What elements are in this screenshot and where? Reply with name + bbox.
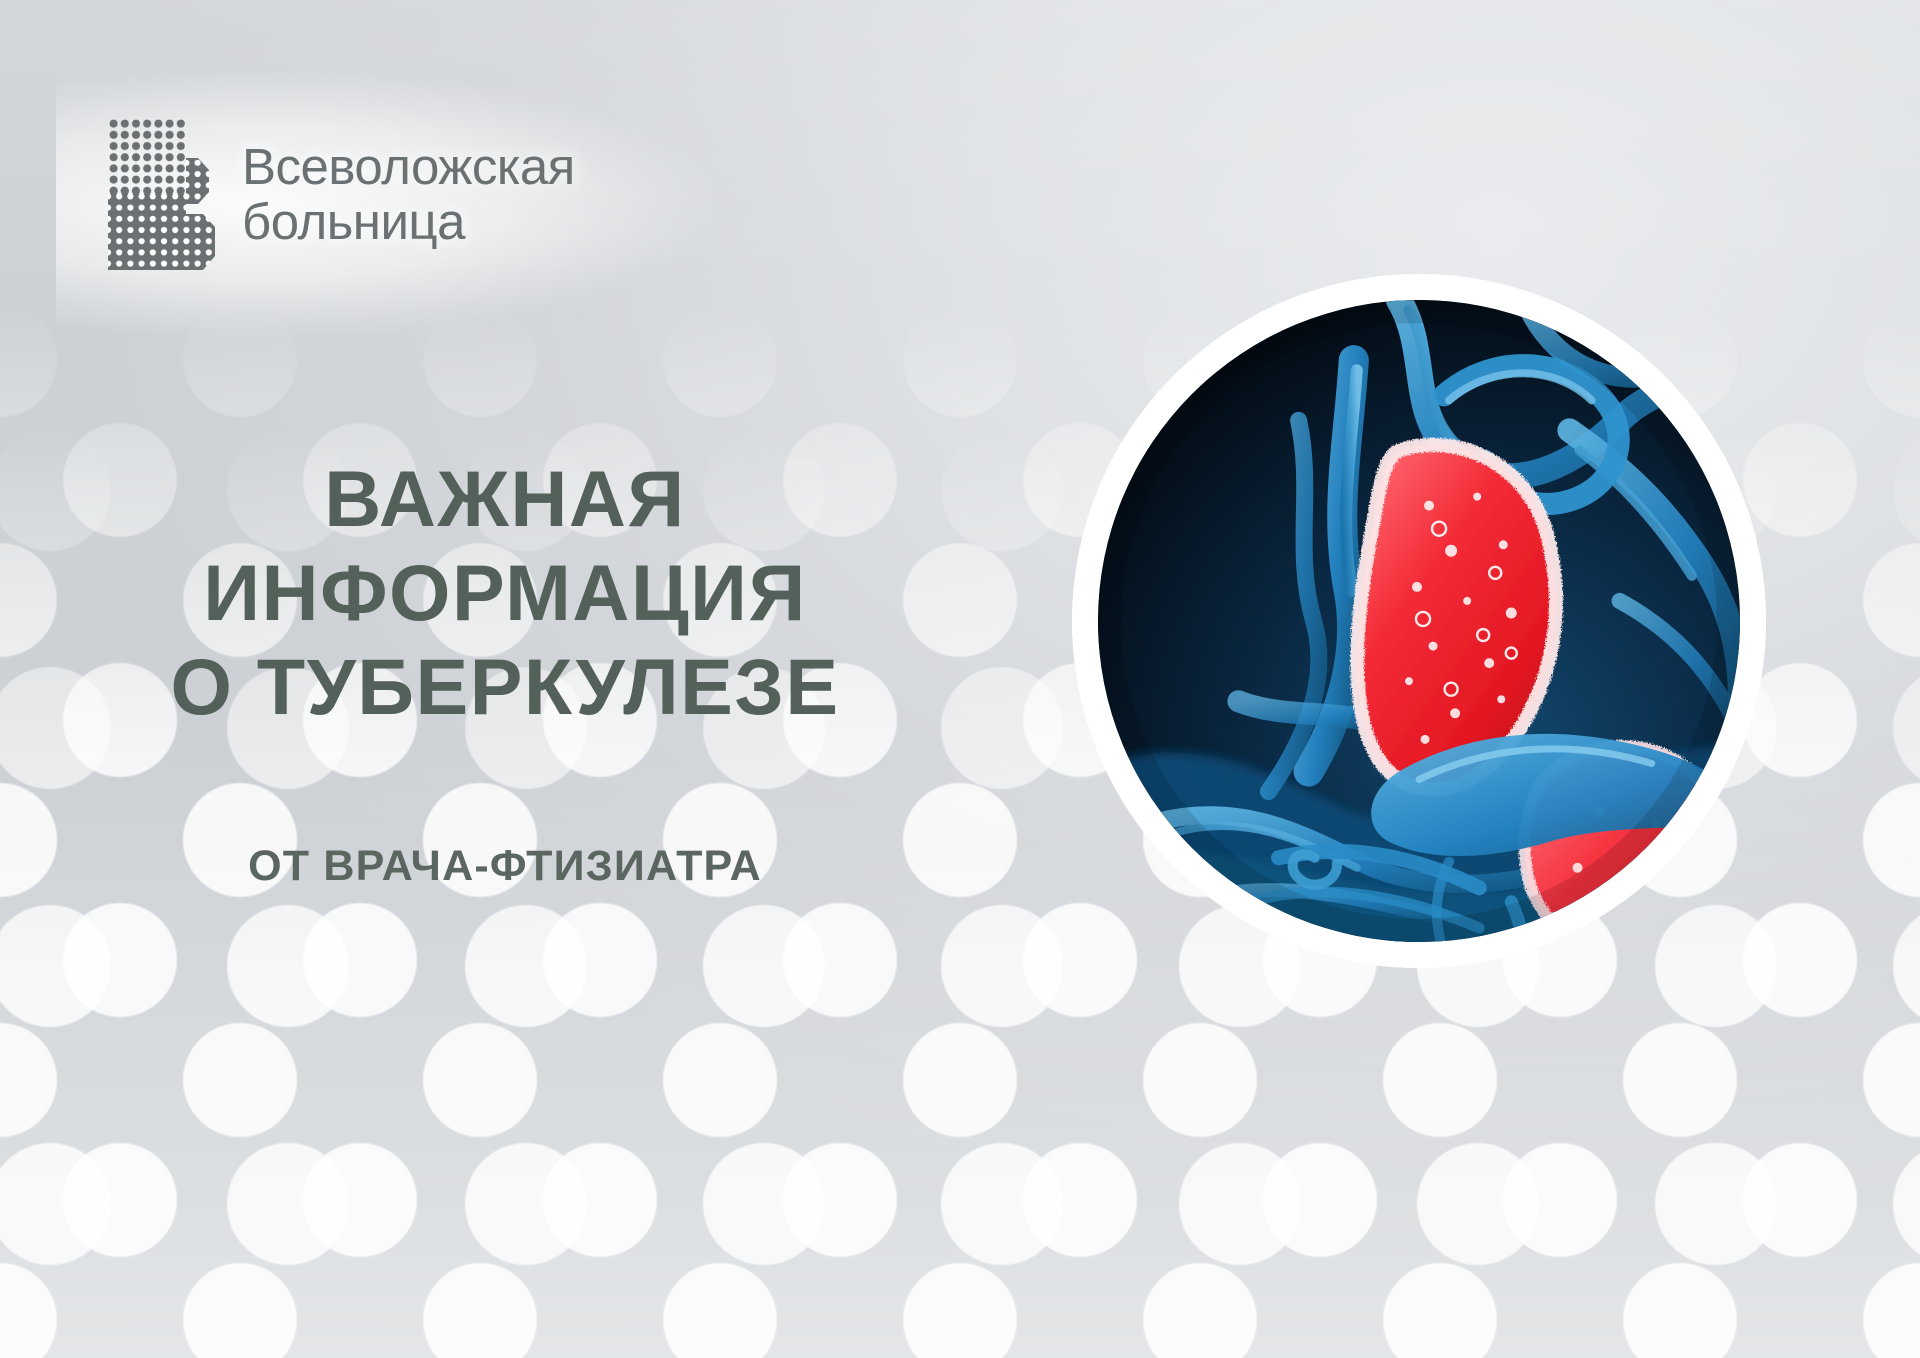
hospital-logo: Всеволожская больница [108,118,575,270]
headline-line-1: ВАЖНАЯ [0,452,1010,546]
headline-line-3: О ТУБЕРКУЛЕЗЕ [0,640,1010,734]
logo-mark-icon [108,118,216,270]
bacteria-photo [1098,300,1740,942]
headline-line-2: ИНФОРМАЦИЯ [0,546,1010,640]
photo-frame [1072,274,1766,968]
subheadline: ОТ ВРАЧА-ФТИЗИАТРА [0,842,1010,891]
headline: ВАЖНАЯ ИНФОРМАЦИЯ О ТУБЕРКУЛЕЗЕ [0,452,1010,734]
poster-canvas: Всеволожская больница ВАЖНАЯ ИНФОРМАЦИЯ … [0,0,1920,1358]
logo-wordmark: Всеволожская больница [242,139,575,249]
